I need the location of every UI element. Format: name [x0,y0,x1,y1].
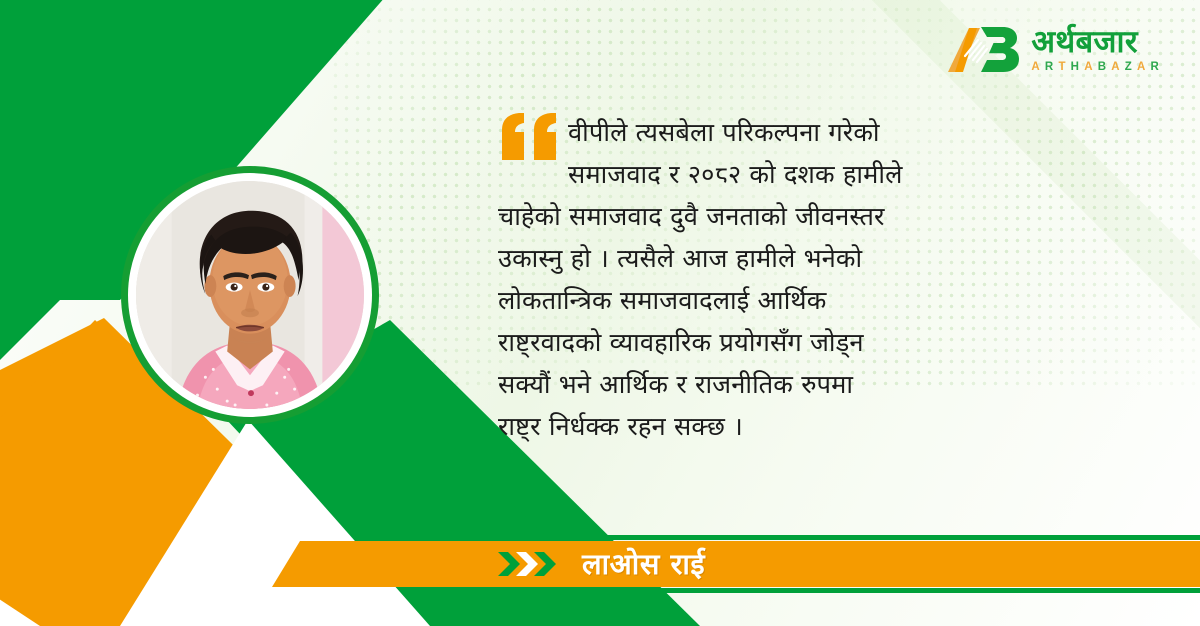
logo-letter: A [1137,61,1151,73]
site-logo[interactable]: अर्थबजार ARTHABAZAR [947,22,1164,78]
arthabazar-logo-mark-icon [947,22,1021,78]
quote-text: वीपीले त्यसबेला परिकल्पना गरेको समाजवाद … [498,112,1158,448]
logo-letter: H [1071,61,1085,73]
logo-letter: A [1031,61,1045,73]
quote-line: वीपीले त्यसबेला परिकल्पना गरेको [498,112,1158,154]
logo-letter: A [1111,61,1125,73]
logo-nepali-text: अर्थबजार [1031,26,1137,59]
quote-card: अर्थबजार ARTHABAZAR वीपीले त्यसबेला परिक… [0,0,1200,626]
quotation-mark-icon [498,112,560,160]
logo-letter: T [1058,61,1070,73]
logo-letter: Z [1125,61,1137,73]
logo-text-group: अर्थबजार ARTHABAZAR [1031,26,1164,73]
quote-line: राष्ट्रवादको व्यावहारिक प्रयोगसँग जोड्न [498,322,1158,364]
quote-line: राष्ट्र निर्धक्क रहन सक्छ । [498,406,1158,448]
logo-latin-text: ARTHABAZAR [1031,62,1164,74]
author-avatar [121,166,379,424]
avatar-photo [136,181,364,409]
quote-line: सक्यौं भने आर्थिक र राजनीतिक रुपमा [498,364,1158,406]
author-label-group: लाओस राई [498,535,705,593]
author-name: लाओस राई [582,550,705,579]
logo-letter: R [1045,61,1059,73]
quote-line: उकास्नु हो । त्यसैले आज हामीले भनेको [498,238,1158,280]
logo-letter: B [1098,61,1112,73]
quote-line: समाजवाद र २०८२ को दशक हामीले [498,154,1158,196]
triple-chevron-right-icon [498,551,560,577]
quote-line: चाहेको समाजवाद दुवै जनताको जीवनस्तर [498,196,1158,238]
logo-letter: R [1150,61,1164,73]
quote-line: लोकतान्त्रिक समाजवादलाई आर्थिक [498,280,1158,322]
logo-letter: A [1084,61,1098,73]
quote-block: वीपीले त्यसबेला परिकल्पना गरेको समाजवाद … [498,112,1158,448]
